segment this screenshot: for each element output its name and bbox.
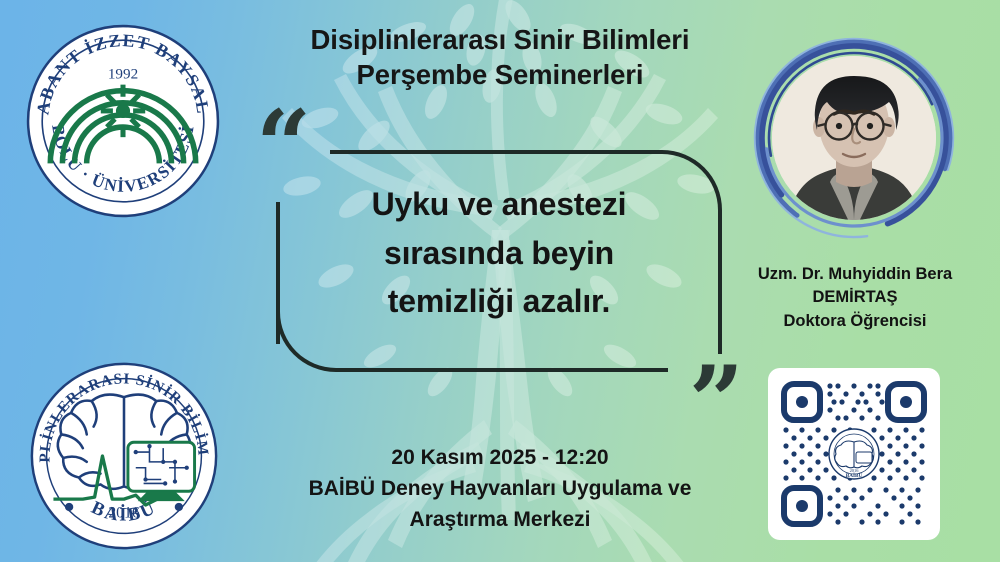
event-venue-line-1: BAİBÜ Deney Hayvanları Uygulama ve	[248, 474, 752, 504]
interdisciplinary-neuroscience-seal: DİSİPLİNLERARASI SİNİR BİLİMLERİ BAİBÜ	[26, 358, 222, 554]
speaker-name-line-2: DEMİRTAŞ	[722, 286, 988, 309]
quote-frame-top-line	[330, 150, 662, 154]
quote-text: Uyku ve anestezi sırasında beyin temizli…	[294, 180, 704, 326]
bolu-abant-izzet-baysal-university-seal: ABANT İZZET BAYSAL BOLU · ÜNİVERSİTESİ 1…	[22, 20, 224, 222]
qr-logo-institution: BAİBÜ	[846, 471, 863, 479]
close-quote-icon: ”	[689, 354, 744, 450]
quote-block: “ ” Uyku ve anestezi sırasında beyin tem…	[276, 150, 722, 372]
circuit-monitor-icon	[128, 442, 195, 501]
qr-code-graphic[interactable]: 2016 BAİBÜ	[776, 376, 932, 532]
event-venue-line-2: Araştırma Merkezi	[248, 505, 752, 535]
title-line-2: Perşembe Seminerleri	[250, 57, 750, 92]
title-line-1: Disiplinlerarası Sinir Bilimleri	[250, 22, 750, 57]
poster-title: Disiplinlerarası Sinir Bilimleri Perşemb…	[250, 22, 750, 92]
seal-year: 1992	[108, 66, 138, 83]
speaker-info: Uzm. Dr. Muhyiddin Bera DEMİRTAŞ Doktora…	[722, 263, 988, 333]
qr-center-logo: 2016 BAİBÜ	[829, 429, 879, 479]
quote-frame-bottom-line	[338, 368, 668, 372]
speaker-role: Doktora Öğrencisi	[722, 310, 988, 333]
event-details: 20 Kasım 2025 - 12:20 BAİBÜ Deney Hayvan…	[248, 443, 752, 534]
event-datetime: 20 Kasım 2025 - 12:20	[248, 443, 752, 473]
quote-line-3: temizliği azalır.	[294, 277, 704, 326]
seminar-poster: ABANT İZZET BAYSAL BOLU · ÜNİVERSİTESİ 1…	[0, 0, 1000, 562]
neuro-seal-year: 2016	[108, 505, 140, 522]
speaker-name-line-1: Uzm. Dr. Muhyiddin Bera	[722, 263, 988, 286]
quote-line-1: Uyku ve anestezi	[294, 180, 704, 229]
quote-line-2: sırasında beyin	[294, 229, 704, 278]
qr-code[interactable]: 2016 BAİBÜ	[768, 368, 940, 540]
speaker-portrait	[748, 32, 960, 244]
